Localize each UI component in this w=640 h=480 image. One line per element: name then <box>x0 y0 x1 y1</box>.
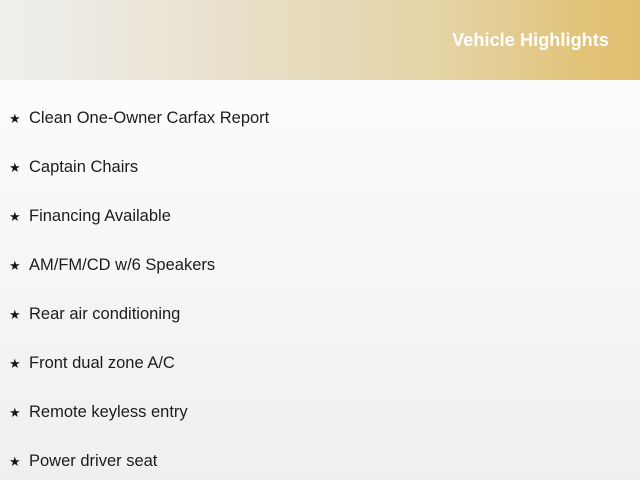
list-item-label: Financing Available <box>29 207 171 227</box>
list-item: ★ Financing Available <box>0 192 640 241</box>
list-item: ★ Front dual zone A/C <box>0 339 640 388</box>
panel-header: Vehicle Highlights <box>0 0 640 80</box>
list-item: ★ Captain Chairs <box>0 143 640 192</box>
list-item-label: Clean One-Owner Carfax Report <box>29 109 269 129</box>
star-icon: ★ <box>9 112 29 125</box>
list-item-label: Remote keyless entry <box>29 403 188 423</box>
list-item: ★ Remote keyless entry <box>0 388 640 437</box>
star-icon: ★ <box>9 357 29 370</box>
page-title: Vehicle Highlights <box>452 31 609 49</box>
list-item-label: Rear air conditioning <box>29 305 180 325</box>
vehicle-highlights-panel: Vehicle Highlights ★ Clean One-Owner Car… <box>0 0 640 480</box>
list-item-label: AM/FM/CD w/6 Speakers <box>29 256 215 276</box>
star-icon: ★ <box>9 406 29 419</box>
vehicle-highlights-list: ★ Clean One-Owner Carfax Report ★ Captai… <box>0 80 640 480</box>
star-icon: ★ <box>9 455 29 468</box>
list-item: ★ Power driver seat <box>0 437 640 480</box>
list-item: ★ Rear air conditioning <box>0 290 640 339</box>
list-item-label: Captain Chairs <box>29 158 138 178</box>
star-icon: ★ <box>9 308 29 321</box>
star-icon: ★ <box>9 161 29 174</box>
list-item: ★ Clean One-Owner Carfax Report <box>0 94 640 143</box>
star-icon: ★ <box>9 259 29 272</box>
list-item: ★ AM/FM/CD w/6 Speakers <box>0 241 640 290</box>
list-item-label: Power driver seat <box>29 452 157 472</box>
list-item-label: Front dual zone A/C <box>29 354 175 374</box>
star-icon: ★ <box>9 210 29 223</box>
